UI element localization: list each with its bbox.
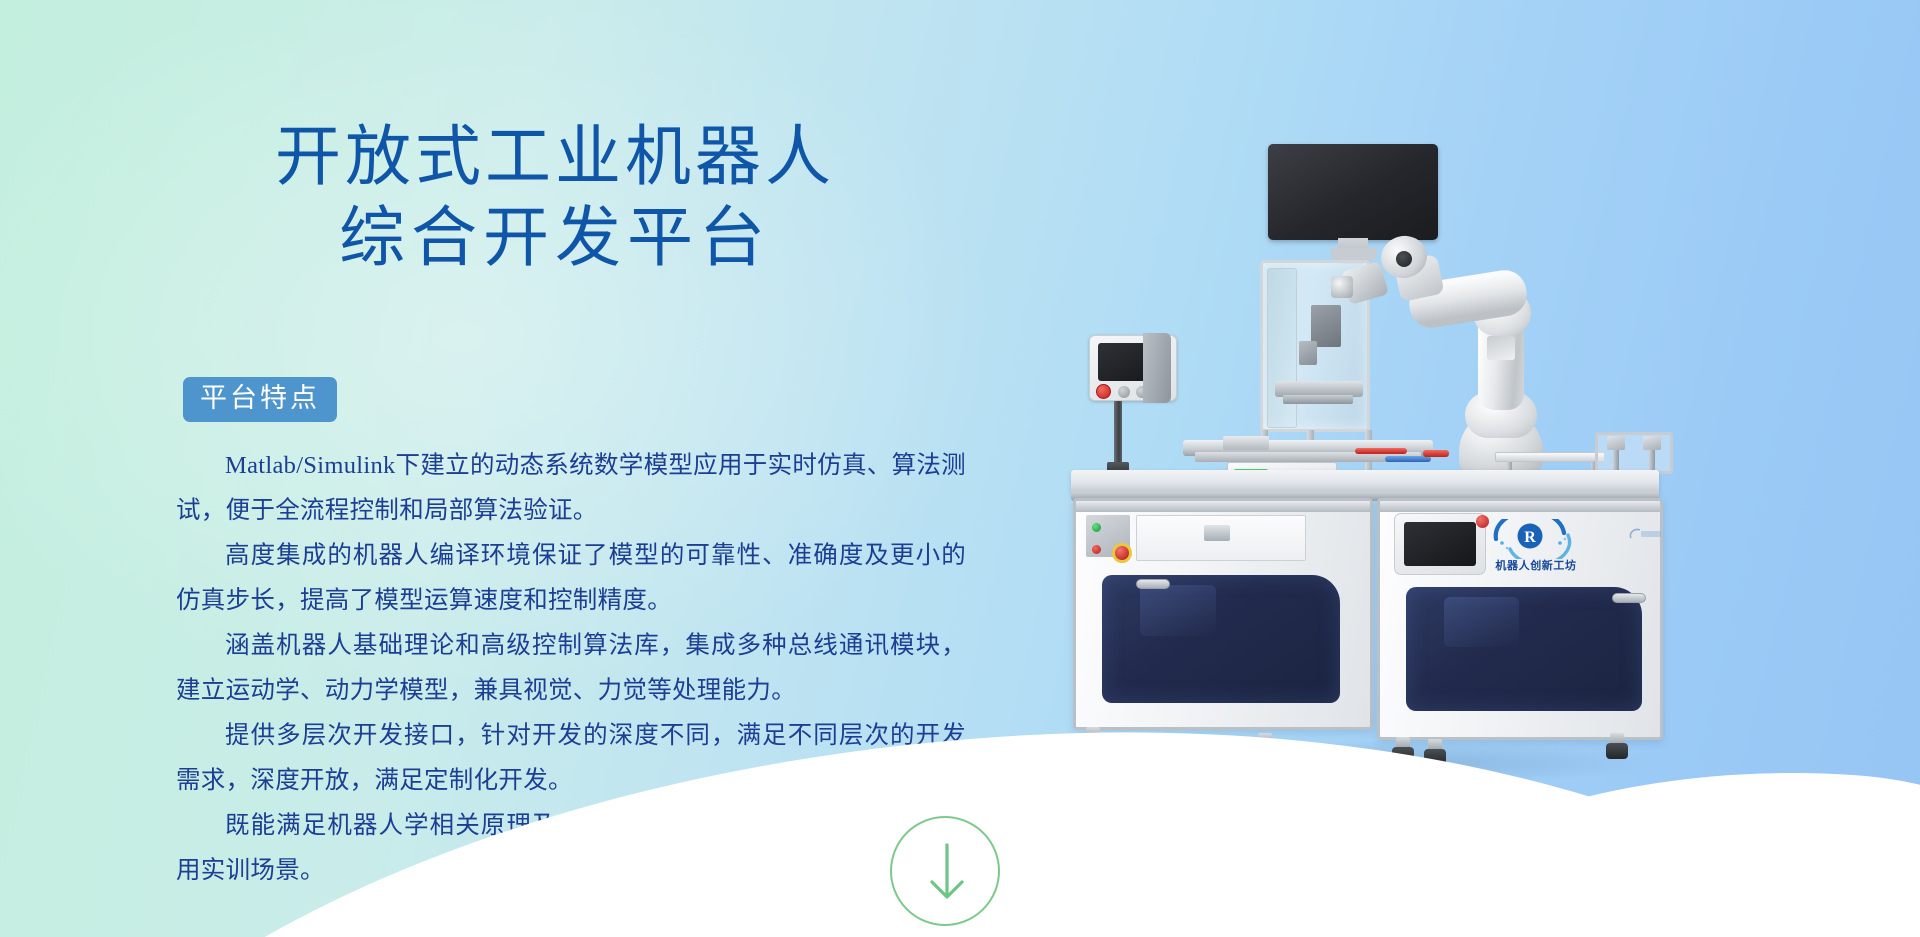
caster-wheel [1606, 733, 1628, 759]
feature-paragraph: 涵盖机器人基础理论和高级控制算法库，集成多种总线通讯模块，建立运动学、动力学模型… [176, 623, 966, 713]
enclosure-door [1267, 268, 1297, 428]
power-on-indicator [1092, 523, 1101, 532]
window-reflection [1140, 585, 1216, 636]
robot-arm-window [1487, 336, 1515, 360]
robot-arm-flange-bore [1396, 251, 1412, 267]
product-photo: R 机器人创新工坊 [1055, 140, 1695, 800]
enclosure-rail-lower [1283, 395, 1353, 404]
brand-logo: R 机器人创新工坊 [1476, 519, 1596, 575]
title-line-1: 开放式工业机器人 [175, 118, 935, 199]
feature-paragraph: 高度集成的机器人编译环境保证了模型的可靠性、准确度及更小的仿真步长，提高了模型运… [176, 533, 966, 623]
emergency-stop-icon [1096, 384, 1111, 399]
cabinet-door-handle [1136, 579, 1170, 589]
side-brand-mark [1628, 527, 1666, 541]
left-cabinet [1073, 498, 1373, 730]
hmi-button [1118, 386, 1130, 398]
tool-tray [1495, 452, 1605, 462]
scroll-down-button[interactable] [890, 816, 1000, 926]
linear-axis-carriage [1223, 436, 1269, 450]
gripper-stem [1613, 450, 1619, 472]
right-cabinet: R 机器人创新工坊 [1377, 498, 1663, 740]
caster-tire [1606, 743, 1628, 759]
feature-paragraph: Matlab/Simulink下建立的动态系统数学模型应用于实时仿真、算法测试，… [176, 443, 966, 533]
side-logo-icon [1628, 527, 1666, 541]
hmi-housing [1143, 333, 1171, 403]
enclosure-tool [1299, 341, 1317, 365]
cabinet-hmi-panel [1394, 513, 1486, 575]
arrow-down-icon [892, 818, 1002, 928]
cabinet-control-panel [1086, 515, 1130, 557]
actuator-rod-blue [1385, 456, 1431, 462]
drawer-handle [1204, 525, 1230, 541]
title-line-2: 综合开发平台 [175, 199, 935, 280]
robot-r-icon: R [1476, 519, 1596, 559]
brand-logo-text: 机器人创新工坊 [1476, 557, 1596, 573]
cabinet-top-rail [1380, 501, 1660, 512]
page-title: 开放式工业机器人 综合开发平台 [175, 118, 935, 279]
cabinet-door-handle [1612, 593, 1646, 603]
window-reflection [1444, 597, 1520, 647]
cabinet-top-rail [1076, 501, 1370, 512]
gripper-head [1643, 436, 1661, 450]
robot-end-effector-tip [1331, 276, 1353, 298]
feature-badge: 平台特点 [183, 377, 337, 422]
gripper-stem [1649, 450, 1655, 472]
cabinet-window [1406, 587, 1642, 711]
hmi-pole [1114, 401, 1122, 465]
actuator-rod-red [1355, 448, 1407, 454]
cabinet-window [1102, 575, 1340, 703]
svg-text:R: R [1524, 529, 1536, 546]
fault-indicator [1092, 545, 1101, 554]
display-monitor [1268, 144, 1438, 240]
hero-banner: 开放式工业机器人 综合开发平台 平台特点 Matlab/Simulink下建立的… [0, 0, 1920, 937]
emergency-stop-button [1112, 543, 1132, 563]
actuator-rod-red [1423, 450, 1449, 457]
cabinet-hmi-screen [1404, 522, 1476, 566]
gripper-head [1607, 436, 1625, 450]
